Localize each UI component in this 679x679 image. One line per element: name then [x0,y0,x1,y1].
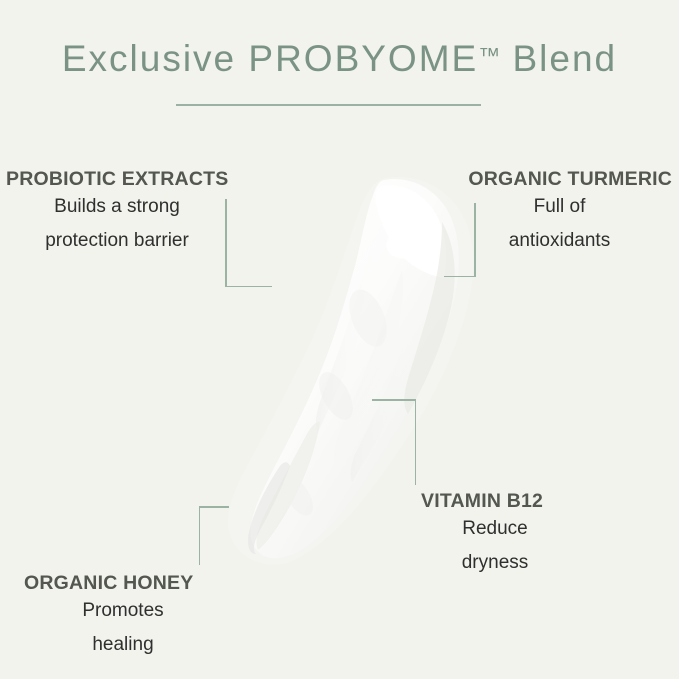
connector-line-honey-vertical [199,506,201,565]
callout-organic-honey: ORGANIC HONEY Promotes healing [24,572,222,661]
callout-heading-organic-turmeric: ORGANIC TURMERIC [447,168,672,190]
callout-description-line-2: protection barrier [6,224,228,257]
callout-vitamin-b12: VITAMIN B12 Reduce dryness [421,490,569,579]
callout-description-organic-turmeric: Full of antioxidants [447,190,672,257]
callout-description-line-1: Reduce [421,512,569,545]
connector-line-probiotic-horizontal [225,286,272,288]
trademark-symbol: ™ [478,43,500,68]
infographic-canvas: Exclusive PROBYOME™ Blend [0,0,679,679]
page-title: Exclusive PROBYOME™ Blend [0,38,679,80]
title-divider [176,104,481,106]
callout-description-organic-honey: Promotes healing [24,594,222,661]
page-title-prefix: Exclusive PROBYOME [62,38,478,79]
callout-description-line-1: Promotes [24,594,222,627]
connector-line-honey-horizontal [199,506,229,508]
callout-probiotic-extracts: PROBIOTIC EXTRACTS Builds a strong prote… [6,168,228,257]
connector-line-vitamin-vertical [415,399,417,485]
callout-description-line-2: antioxidants [447,224,672,257]
callout-description-line-1: Builds a strong [6,190,228,223]
callout-organic-turmeric: ORGANIC TURMERIC Full of antioxidants [447,168,672,257]
callout-heading-probiotic-extracts: PROBIOTIC EXTRACTS [6,168,228,190]
callout-heading-vitamin-b12: VITAMIN B12 [421,490,569,512]
callout-description-line-2: dryness [421,546,569,579]
callout-description-line-1: Full of [447,190,672,223]
callout-heading-organic-honey: ORGANIC HONEY [24,572,222,594]
page-title-suffix: Blend [500,38,617,79]
callout-description-probiotic-extracts: Builds a strong protection barrier [6,190,228,257]
callout-description-line-2: healing [24,628,222,661]
connector-line-vitamin-horizontal [372,399,416,401]
callout-description-vitamin-b12: Reduce dryness [421,512,569,579]
connector-line-turmeric-horizontal [444,276,475,278]
